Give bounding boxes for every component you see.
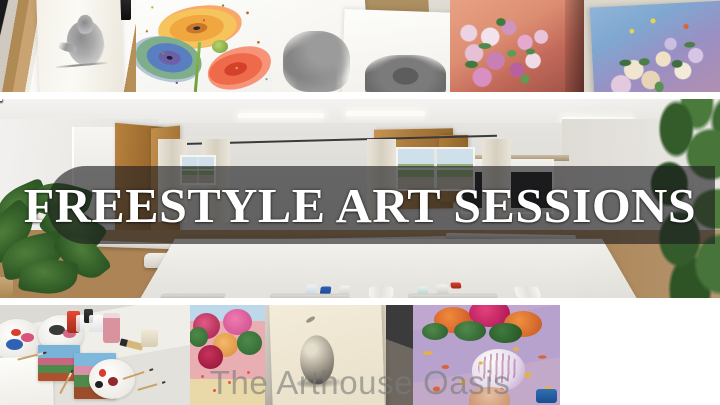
panel-bird-sketch (0, 0, 136, 92)
paint-blob (95, 381, 103, 388)
plant-pot (0, 277, 13, 298)
panel-blue-floral-canvas (584, 0, 720, 92)
paint-bottle-blue (320, 287, 332, 293)
paper-roll (514, 287, 542, 298)
pencil-icon (137, 381, 165, 391)
petal-dot (201, 375, 204, 378)
paint-blob (21, 333, 34, 342)
page-title: FREESTYLE ART SESSIONS (0, 160, 720, 250)
top-artwork-strip (0, 0, 720, 92)
paint-blob (11, 329, 21, 336)
strip-divider-top (0, 92, 720, 99)
sketch-paper (36, 0, 124, 92)
paint-blob (108, 377, 118, 386)
wall-art (0, 99, 2, 101)
ceramic-cup (141, 329, 158, 347)
elephant-side-drawing (283, 31, 351, 92)
paint-bottle-cream (437, 285, 449, 293)
paint-blob (6, 339, 23, 350)
panel-elephant-drawings (272, 0, 450, 92)
water-jar (76, 315, 84, 332)
paint-splatter (136, 0, 272, 92)
petal-dot (228, 381, 231, 384)
red-tool (451, 283, 462, 289)
ceiling-light-icon (237, 113, 325, 118)
panel-hydrangea-painting (190, 305, 265, 405)
paint-bottle-green (418, 287, 429, 294)
hand (469, 387, 510, 405)
water-jar (95, 315, 103, 332)
panel-watercolour-poppy (136, 0, 272, 92)
pink-drink-jar (103, 313, 120, 343)
panel-sphere-study (265, 305, 413, 405)
coral-blossoms (450, 0, 584, 92)
strip-divider-bottom (0, 298, 720, 305)
canvas-edge (565, 0, 584, 92)
blue-blossoms (590, 0, 720, 92)
panel-vase-painting (413, 305, 560, 405)
petal-dot (247, 371, 250, 374)
water-bottle (305, 285, 317, 293)
petal-dot (213, 389, 216, 392)
panel-palette-table (0, 305, 190, 405)
paint-bottle-white (340, 286, 351, 294)
paper-roll (369, 287, 394, 298)
paint-brush-icon (119, 338, 143, 350)
blue-canvas-board (590, 0, 720, 92)
cast-shadow (296, 377, 346, 390)
elephant-front-drawing (365, 55, 447, 92)
bird-branch-shape (56, 62, 108, 69)
pencil-mark (305, 315, 316, 324)
phone-screen (536, 389, 557, 403)
dark-corner (386, 305, 413, 405)
hydrangea-leaf (190, 327, 208, 347)
hydrangea-bloom (198, 345, 224, 369)
panel-coral-floral-canvas (450, 0, 584, 92)
drawing-paper (269, 305, 385, 405)
poster-canvas: FREESTYLE ART SESSIONS (0, 0, 720, 405)
bottom-session-strip (0, 305, 720, 405)
hydrangea-leaf (237, 331, 263, 355)
ceiling-light-icon (345, 111, 425, 116)
